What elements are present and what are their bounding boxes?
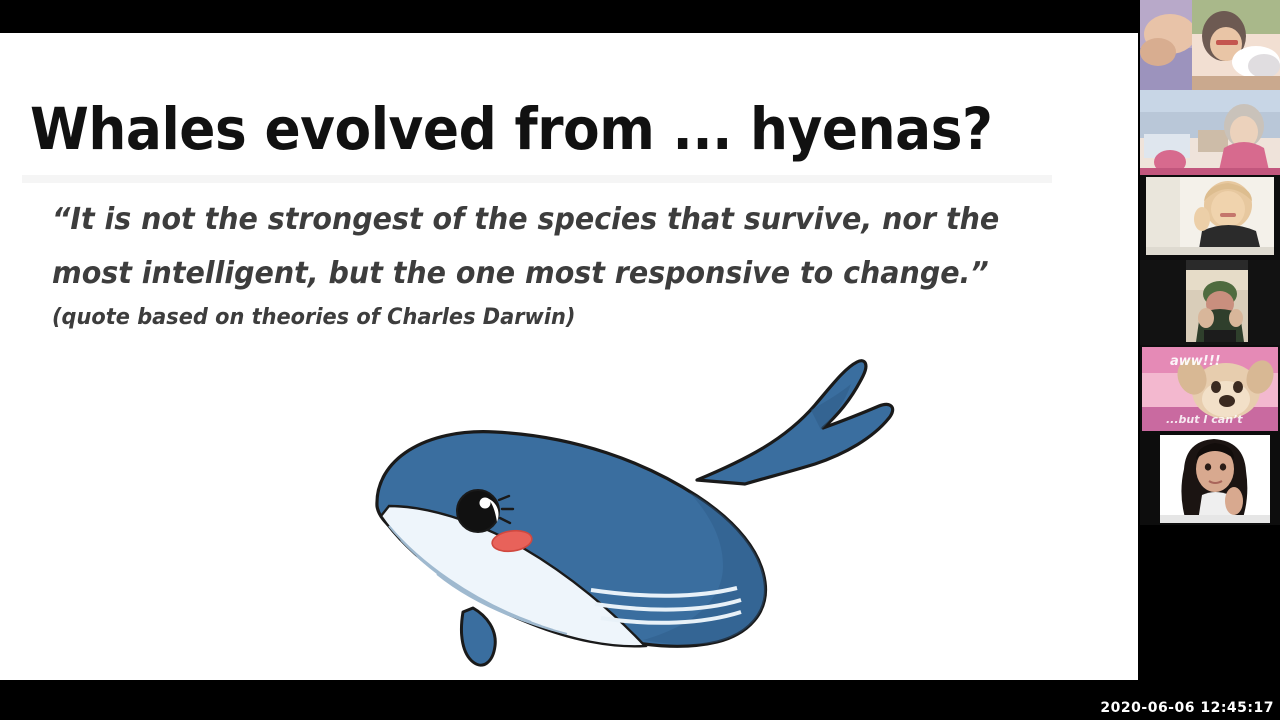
- quote-block: “It is not the strongest of the species …: [52, 193, 1052, 330]
- tile5-overlay-top: aww!!!: [1170, 354, 1221, 369]
- whale-fin: [461, 608, 495, 665]
- participant-tile-3[interactable]: [1140, 175, 1280, 260]
- whale-eye: [457, 490, 499, 532]
- quote-attribution: (quote based on theories of Charles Darw…: [52, 305, 1002, 330]
- whale-illustration: [345, 350, 910, 670]
- participant-tile-4[interactable]: [1140, 260, 1280, 345]
- meeting-window: Whales evolved from ... hyenas? “It is n…: [0, 0, 1280, 720]
- quote-line-2: most intelligent, but the one most respo…: [52, 247, 1002, 301]
- participant-video-strip[interactable]: aww!!! ...but I can’t: [1140, 0, 1280, 720]
- participant-tile-1-frame: [1140, 0, 1280, 90]
- slide-title: Whales evolved from ... hyenas?: [30, 95, 993, 163]
- title-divider: [22, 175, 1052, 183]
- participant-tile-2-frame: [1140, 90, 1280, 175]
- whale-tail: [697, 361, 893, 484]
- quote-line-1: “It is not the strongest of the species …: [52, 193, 1002, 247]
- whale-eye-highlight: [480, 498, 491, 509]
- participant-tile-1[interactable]: [1140, 0, 1280, 90]
- participant-tile-2[interactable]: [1140, 90, 1280, 175]
- participant-tile-4-frame: [1140, 260, 1280, 345]
- participant-tile-5-frame: aww!!! ...but I can’t: [1140, 345, 1280, 435]
- participant-tile-5[interactable]: aww!!! ...but I can’t: [1140, 345, 1280, 435]
- meeting-clock: 2020-06-06 12:45:17: [1100, 700, 1274, 716]
- participant-tile-6-frame: [1140, 435, 1280, 525]
- participant-tile-6[interactable]: [1140, 435, 1280, 525]
- shared-slide[interactable]: Whales evolved from ... hyenas? “It is n…: [0, 33, 1138, 680]
- participant-tile-3-frame: [1140, 175, 1280, 260]
- tile5-overlay-bottom: ...but I can’t: [1166, 413, 1243, 426]
- whale-tail-group: [697, 361, 893, 484]
